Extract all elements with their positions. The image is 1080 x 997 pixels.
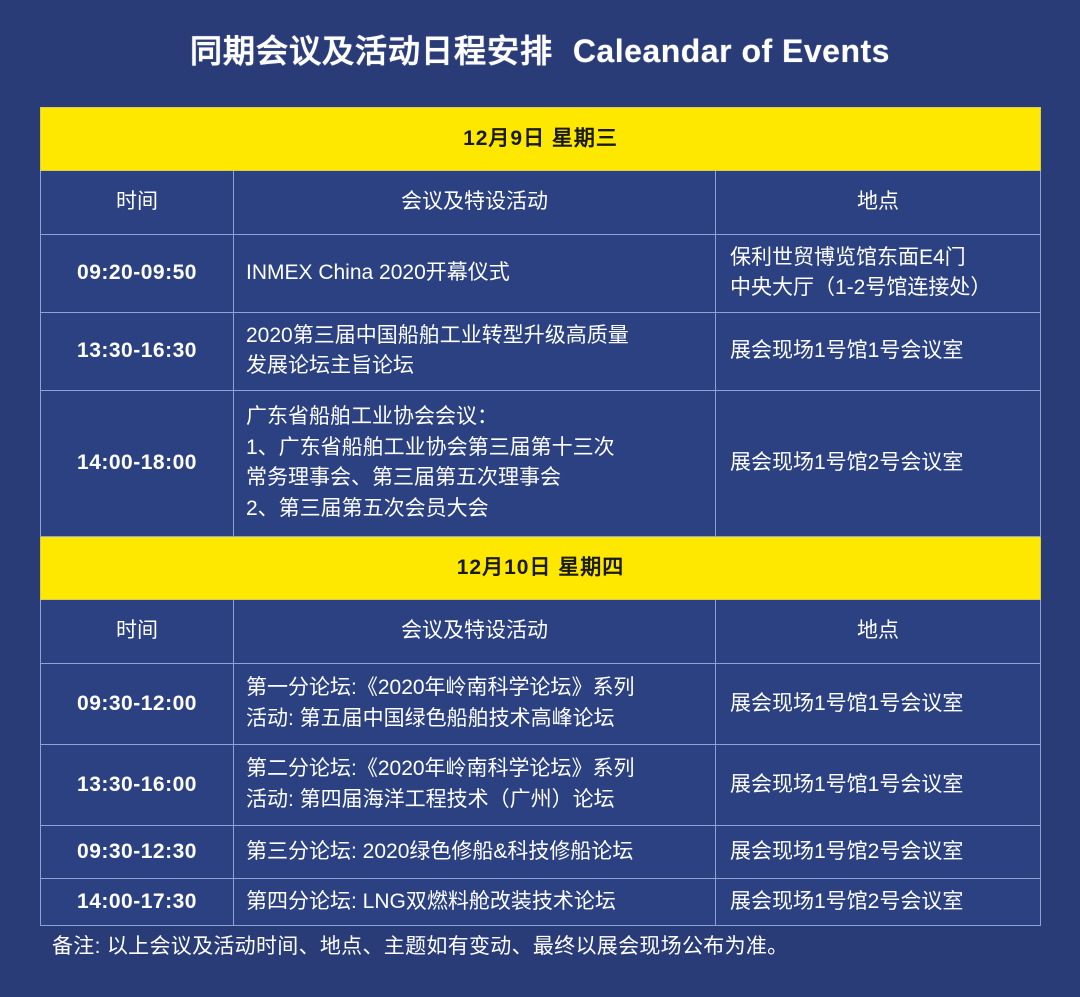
column-header-place: 地点 [716,171,1041,235]
event-line: 1、广东省船舶工业协会第三届第十三次 [246,433,705,463]
place-line: 展会现场1号馆2号会议室 [730,448,1030,478]
day-banner-1: 12月9日 星期三 [41,108,1041,171]
cell-event: 广东省船舶工业协会会议： 1、广东省船舶工业协会第三届第十三次 常务理事会、第三… [234,390,716,536]
place-line: 展会现场1号馆1号会议室 [730,689,1030,719]
place-line: 保利世贸博览馆东面E4门 [730,243,1030,273]
event-line: 第四分论坛: LNG双燃料舱改装技术论坛 [246,887,705,917]
cell-place: 展会现场1号馆1号会议室 [716,663,1041,744]
page-title-en: Caleandar of Events [573,33,890,69]
page-title: 同期会议及活动日程安排 Caleandar of Events [0,0,1080,70]
day-banner-row: 12月10日 星期四 [41,536,1041,599]
cell-place: 保利世贸博览馆东面E4门 中央大厅（1-2号馆连接处） [716,235,1041,313]
table-row: 09:30-12:00 第一分论坛:《2020年岭南科学论坛》系列 活动: 第五… [41,663,1041,744]
event-line: 活动: 第五届中国绿色船舶技术高峰论坛 [246,704,705,734]
table-row: 14:00-18:00 广东省船舶工业协会会议： 1、广东省船舶工业协会第三届第… [41,390,1041,536]
column-header-time: 时间 [41,599,234,663]
footer-note: 备注: 以上会议及活动时间、地点、主题如有变动、最终以展会现场公布为准。 [52,930,788,960]
place-line: 展会现场1号馆2号会议室 [730,887,1030,917]
event-line: 2、第三届第五次会员大会 [246,494,705,524]
place-line: 展会现场1号馆1号会议室 [730,336,1030,366]
cell-place: 展会现场1号馆1号会议室 [716,312,1041,390]
cell-place: 展会现场1号馆1号会议室 [716,744,1041,825]
place-line: 展会现场1号馆1号会议室 [730,770,1030,800]
event-line: 2020第三届中国船舶工业转型升级高质量 [246,321,705,351]
table-row: 09:30-12:30 第三分论坛: 2020绿色修船&科技修船论坛 展会现场1… [41,825,1041,878]
cell-place: 展会现场1号馆2号会议室 [716,878,1041,925]
cell-time: 14:00-17:30 [41,878,234,925]
cell-time: 13:30-16:00 [41,744,234,825]
cell-time: 09:30-12:30 [41,825,234,878]
column-header-row: 时间 会议及特设活动 地点 [41,599,1041,663]
column-header-row: 时间 会议及特设活动 地点 [41,171,1041,235]
schedule-table-wrapper: 12月9日 星期三 时间 会议及特设活动 地点 09:20-09:50 INME… [40,107,1040,926]
cell-place: 展会现场1号馆2号会议室 [716,390,1041,536]
table-row: 13:30-16:00 第二分论坛:《2020年岭南科学论坛》系列 活动: 第四… [41,744,1041,825]
event-line: 第二分论坛:《2020年岭南科学论坛》系列 [246,754,705,784]
day-banner-2: 12月10日 星期四 [41,536,1041,599]
table-row: 14:00-17:30 第四分论坛: LNG双燃料舱改装技术论坛 展会现场1号馆… [41,878,1041,925]
place-line: 中央大厅（1-2号馆连接处） [730,273,1030,303]
place-line: 展会现场1号馆2号会议室 [730,837,1030,867]
cell-time: 09:20-09:50 [41,235,234,313]
event-line: 常务理事会、第三届第五次理事会 [246,463,705,493]
cell-event: 第四分论坛: LNG双燃料舱改装技术论坛 [234,878,716,925]
cell-event: 第三分论坛: 2020绿色修船&科技修船论坛 [234,825,716,878]
cell-event: 第一分论坛:《2020年岭南科学论坛》系列 活动: 第五届中国绿色船舶技术高峰论… [234,663,716,744]
column-header-place: 地点 [716,599,1041,663]
cell-time: 09:30-12:00 [41,663,234,744]
page-title-cn: 同期会议及活动日程安排 [190,33,553,69]
event-line: 发展论坛主旨论坛 [246,351,705,381]
cell-place: 展会现场1号馆2号会议室 [716,825,1041,878]
cell-event: 2020第三届中国船舶工业转型升级高质量 发展论坛主旨论坛 [234,312,716,390]
table-row: 13:30-16:30 2020第三届中国船舶工业转型升级高质量 发展论坛主旨论… [41,312,1041,390]
event-line: INMEX China 2020开幕仪式 [246,258,705,288]
event-line: 活动: 第四届海洋工程技术（广州）论坛 [246,785,705,815]
column-header-event: 会议及特设活动 [234,171,716,235]
table-row: 09:20-09:50 INMEX China 2020开幕仪式 保利世贸博览馆… [41,235,1041,313]
event-line: 广东省船舶工业协会会议： [246,402,705,432]
column-header-event: 会议及特设活动 [234,599,716,663]
cell-time: 14:00-18:00 [41,390,234,536]
cell-event: 第二分论坛:《2020年岭南科学论坛》系列 活动: 第四届海洋工程技术（广州）论… [234,744,716,825]
column-header-time: 时间 [41,171,234,235]
schedule-table: 12月9日 星期三 时间 会议及特设活动 地点 09:20-09:50 INME… [40,107,1041,926]
cell-time: 13:30-16:30 [41,312,234,390]
cell-event: INMEX China 2020开幕仪式 [234,235,716,313]
event-line: 第一分论坛:《2020年岭南科学论坛》系列 [246,673,705,703]
day-banner-row: 12月9日 星期三 [41,108,1041,171]
event-line: 第三分论坛: 2020绿色修船&科技修船论坛 [246,837,705,867]
poster-page: 同期会议及活动日程安排 Caleandar of Events 12月9日 星期… [0,0,1080,997]
